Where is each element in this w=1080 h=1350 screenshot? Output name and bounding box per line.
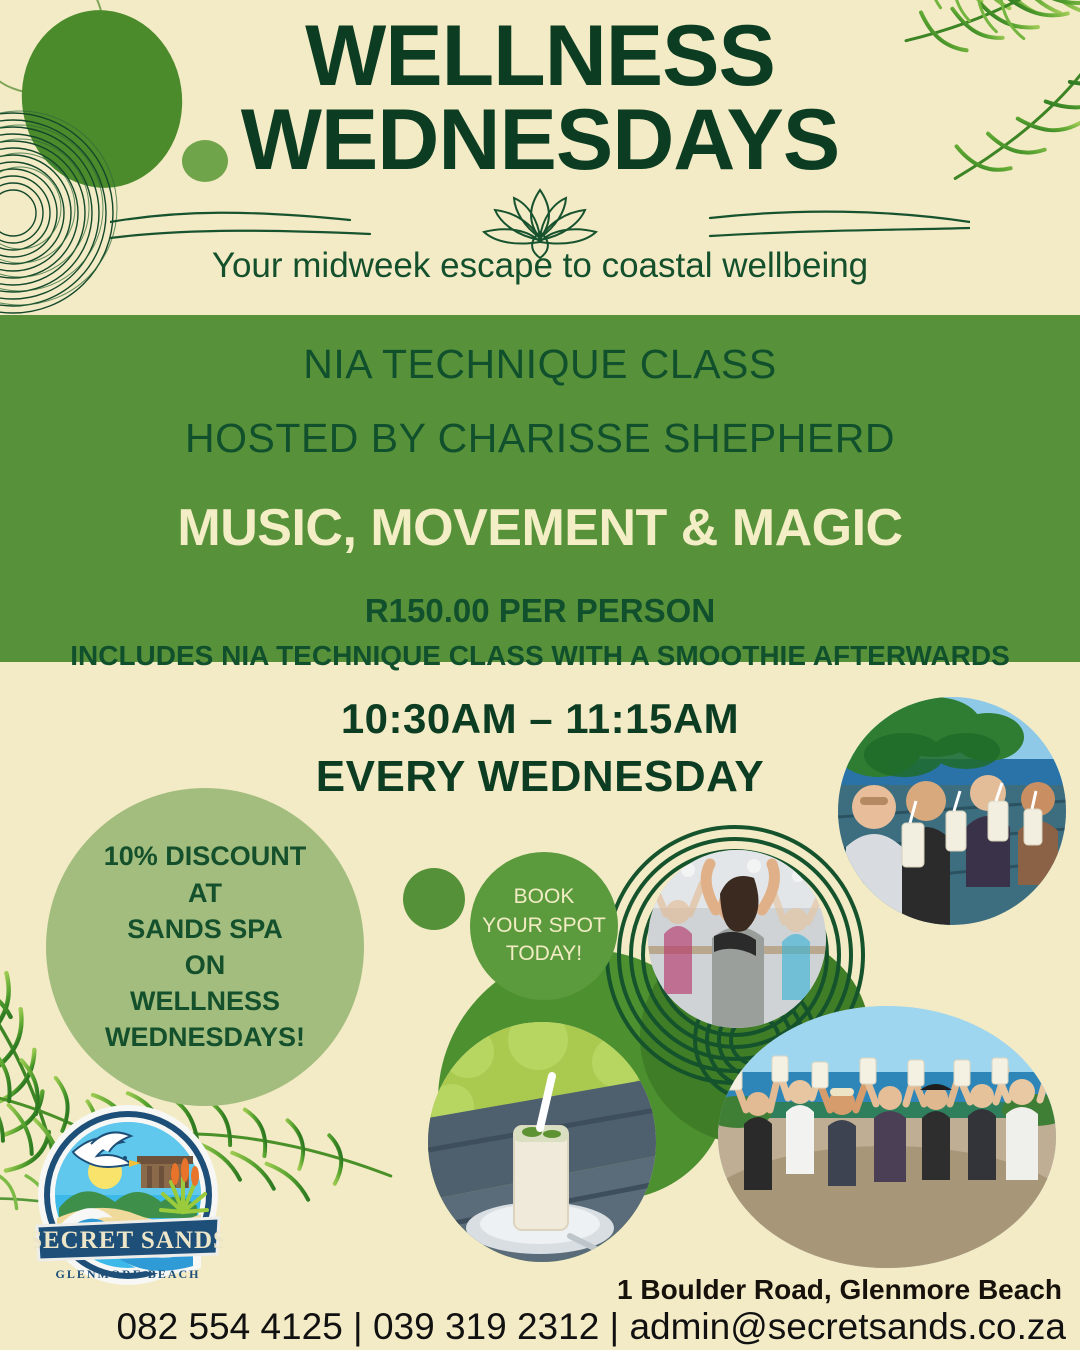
class-headline: MUSIC, MOVEMENT & MAGIC — [0, 498, 1080, 558]
footer-contacts[interactable]: 082 554 4125 | 039 319 2312 | admin@secr… — [0, 1306, 1066, 1348]
book-line: BOOK — [482, 883, 606, 912]
logo-location-text: GLENMORE BEACH — [55, 1267, 200, 1281]
photo-group-celebration — [718, 1006, 1056, 1268]
page-title: WELLNESS WEDNESDAYS — [0, 14, 1080, 183]
discount-line: 10% DISCOUNT — [104, 838, 307, 874]
spa-discount-badge: 10% DISCOUNT AT SANDS SPA ON WELLNESS WE… — [46, 788, 364, 1106]
title-line-2: WEDNESDAYS — [0, 98, 1080, 182]
book-line: YOUR SPOT — [482, 912, 606, 941]
class-day: EVERY WEDNESDAY — [230, 752, 850, 802]
class-includes: INCLUDES NIA TECHNIQUE CLASS WITH A SMOO… — [0, 640, 1080, 672]
discount-line: WELLNESS — [104, 983, 307, 1019]
discount-line: WEDNESDAYS! — [104, 1019, 307, 1055]
title-line-1: WELLNESS — [305, 8, 775, 104]
wellness-wednesdays-flyer: WELLNESS WEDNESDAYS Your midweek escape … — [0, 0, 1080, 1350]
secret-sands-logo: SECRET SANDS GLENMORE BEACH — [33, 1100, 223, 1290]
photo-friends-smoothies-table — [838, 697, 1066, 925]
photo-smoothie-glass — [428, 1022, 656, 1262]
book-line: TODAY! — [482, 940, 606, 969]
class-time: 10:30AM – 11:15AM — [230, 695, 850, 743]
footer-address: 1 Boulder Road, Glenmore Beach — [617, 1274, 1062, 1306]
class-host: HOSTED BY CHARISSE SHEPHERD — [0, 415, 1080, 462]
spa-discount-text: 10% DISCOUNT AT SANDS SPA ON WELLNESS WE… — [104, 838, 307, 1055]
class-details-banner: NIA TECHNIQUE CLASS HOSTED BY CHARISSE S… — [0, 315, 1080, 662]
book-your-spot-badge[interactable]: BOOK YOUR SPOT TODAY! — [470, 852, 618, 1000]
photo-dance-class — [648, 850, 826, 1028]
book-your-spot-text: BOOK YOUR SPOT TODAY! — [482, 883, 606, 970]
discount-line: SANDS SPA — [104, 911, 307, 947]
discount-line: ON — [104, 947, 307, 983]
accent-dot-decoration — [403, 868, 465, 930]
class-price: R150.00 PER PERSON — [0, 592, 1080, 630]
logo-brand-text: SECRET SANDS — [33, 1227, 223, 1254]
class-name: NIA TECHNIQUE CLASS — [0, 341, 1080, 388]
discount-line: AT — [104, 875, 307, 911]
subtitle: Your midweek escape to coastal wellbeing — [0, 246, 1080, 286]
